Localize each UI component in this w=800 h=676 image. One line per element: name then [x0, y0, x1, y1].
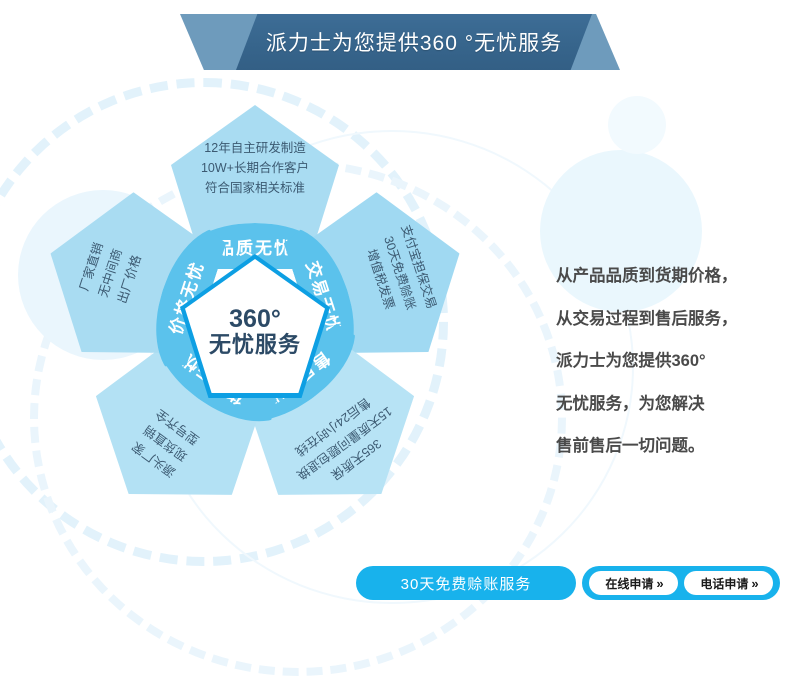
center-pentagon-text: 360° 无忧服务 — [180, 254, 330, 398]
paragraph-line: 从交易过程到售后服务， — [556, 311, 796, 328]
page-title: 派力士为您提供360 °无忧服务 — [266, 27, 562, 57]
petal-line: 12年自主研发制造 — [204, 142, 305, 156]
petal-detail-lines: 12年自主研发制造 10W+长期合作客户 符合国家相关标准 — [171, 121, 339, 217]
header-banner: 派力士为您提供360 °无忧服务 — [0, 14, 800, 70]
paragraph-line: 从产品品质到货期价格， — [556, 268, 796, 285]
online-apply-label: 在线申请 — [605, 575, 653, 592]
petal-line: 符合国家相关标准 — [205, 182, 305, 196]
credit-service-label: 30天免费赊账服务 — [401, 573, 532, 594]
paragraph-line: 售前售后一切问题。 — [556, 438, 796, 455]
soft-circle-small — [608, 96, 666, 154]
apply-button-group: 在线申请 » 电话申请 » — [582, 566, 780, 600]
promo-banner: 派力士为您提供360 °无忧服务 12年自主研发制造 10W+长期合作客户 符合… — [0, 0, 800, 619]
petal-line: 10W+长期合作客户 — [201, 162, 309, 176]
center-degree: 360° — [229, 306, 281, 332]
bottom-action-bar: 30天免费赊账服务 在线申请 » 电话申请 » — [356, 566, 780, 600]
phone-apply-button[interactable]: 电话申请 » — [684, 571, 773, 595]
header-center-plate: 派力士为您提供360 °无忧服务 — [236, 14, 592, 70]
center-pentagon: 360° 无忧服务 — [180, 254, 330, 398]
paragraph-line: 无忧服务，为您解决 — [556, 396, 796, 413]
credit-service-badge: 30天免费赊账服务 — [356, 566, 576, 600]
paragraph-line: 派力士为您提供360° — [556, 353, 796, 370]
chevron-right-icon: » — [751, 576, 756, 591]
pentagon-flower-diagram: 12年自主研发制造 10W+长期合作客户 符合国家相关标准 品质无忧 支付宝担保… — [20, 90, 490, 550]
center-label: 无忧服务 — [209, 332, 301, 357]
phone-apply-label: 电话申请 — [700, 575, 748, 592]
chevron-right-icon: » — [656, 576, 661, 591]
description-paragraph: 从产品品质到货期价格， 从交易过程到售后服务， 派力士为您提供360° 无忧服务… — [556, 268, 796, 455]
online-apply-button[interactable]: 在线申请 » — [589, 571, 678, 595]
